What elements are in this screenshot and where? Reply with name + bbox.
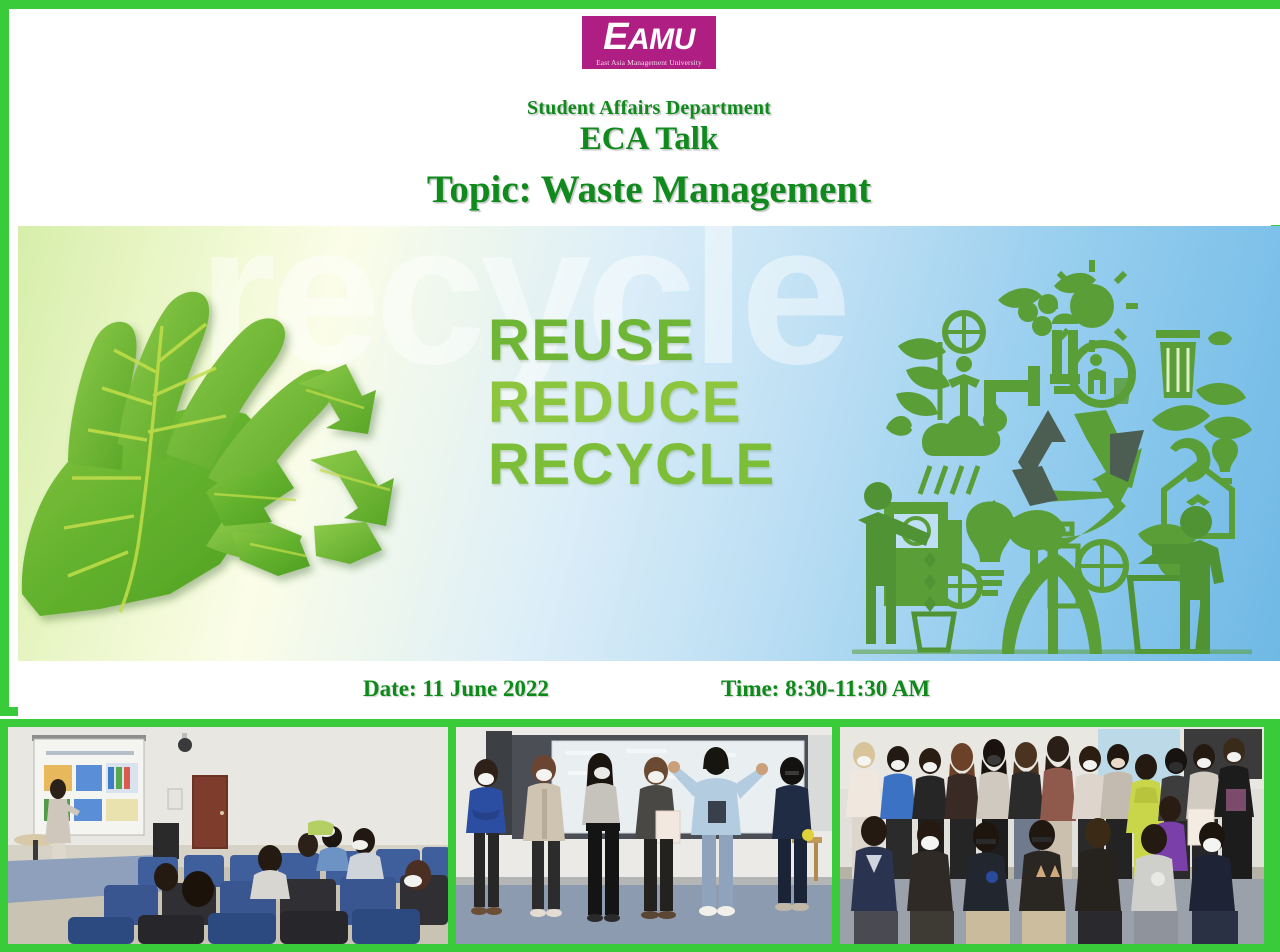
eca-talk-poster: EAMU East Asia Management University Stu…	[0, 0, 1280, 952]
leaf-hand-recycle-graphic	[18, 264, 430, 661]
event-time: Time: 8:30-11:30 AM	[721, 676, 930, 702]
event-topic: Topic: Waste Management	[18, 167, 1280, 212]
eamu-logo-rest: AMU	[628, 23, 695, 56]
eamu-logo-subtitle: East Asia Management University	[596, 59, 702, 67]
event-details-bar: Date: 11 June 2022 Time: 8:30-11:30 AM	[18, 661, 1280, 716]
photo-student-presenters	[456, 727, 832, 944]
banner-slogan-line-1: REUSE	[488, 310, 776, 372]
banner-slogan-line-2: REDUCE	[488, 372, 776, 434]
poster-top-card: EAMU East Asia Management University Stu…	[0, 0, 1280, 716]
poster-header: EAMU East Asia Management University Stu…	[18, 9, 1280, 225]
banner-slogan-line-3: RECYCLE	[488, 434, 776, 496]
event-date: Date: 11 June 2022	[363, 676, 549, 702]
eamu-logo-wordmark: EAMU	[603, 18, 695, 56]
banner-slogan: REUSE REDUCE RECYCLE	[488, 310, 776, 496]
eamu-logo-initial: E	[603, 16, 628, 58]
eamu-logo: EAMU East Asia Management University	[582, 16, 716, 69]
event-title: ECA Talk	[18, 121, 1280, 158]
event-photo-strip	[0, 719, 1280, 952]
photo-presentation-hall	[8, 727, 448, 944]
photo-group-portrait	[840, 727, 1264, 944]
eco-tree-graphic	[852, 234, 1252, 654]
department-label: Student Affairs Department	[18, 97, 1280, 120]
recycling-banner: recycle	[18, 226, 1280, 661]
